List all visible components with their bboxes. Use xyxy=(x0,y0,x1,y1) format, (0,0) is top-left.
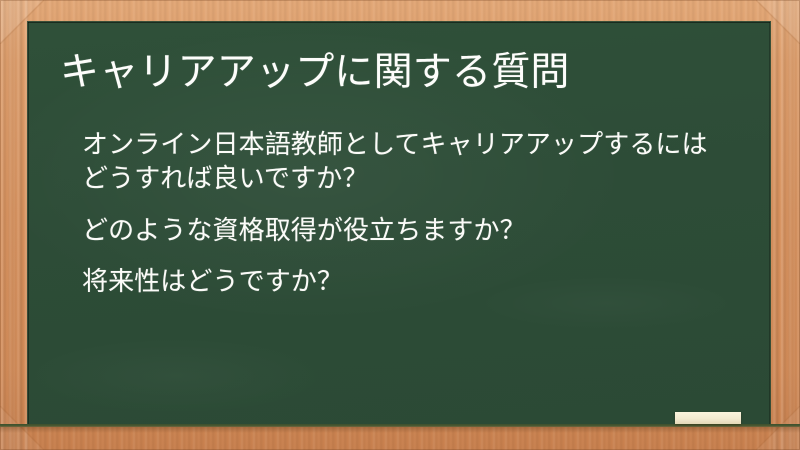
question-item: 将来性はどうですか？ xyxy=(82,265,730,299)
question-list: オンライン日本語教師としてキャリアアップするにはどうすれば良いですか？ どのよう… xyxy=(82,128,730,299)
slide-title: キャリアアップに関する質問 xyxy=(60,50,570,96)
board-ledge-line xyxy=(0,424,800,427)
question-item: オンライン日本語教師としてキャリアアップするにはどうすれば良いですか？ xyxy=(82,128,730,196)
chalkboard-surface: キャリアアップに関する質問 オンライン日本語教師としてキャリアアップするにはどう… xyxy=(28,22,770,424)
chalkboard-slide: キャリアアップに関する質問 オンライン日本語教師としてキャリアアップするにはどう… xyxy=(0,0,800,450)
chalk-stick-icon xyxy=(675,412,741,424)
question-item: どのような資格取得が役立ちますか？ xyxy=(82,214,730,248)
